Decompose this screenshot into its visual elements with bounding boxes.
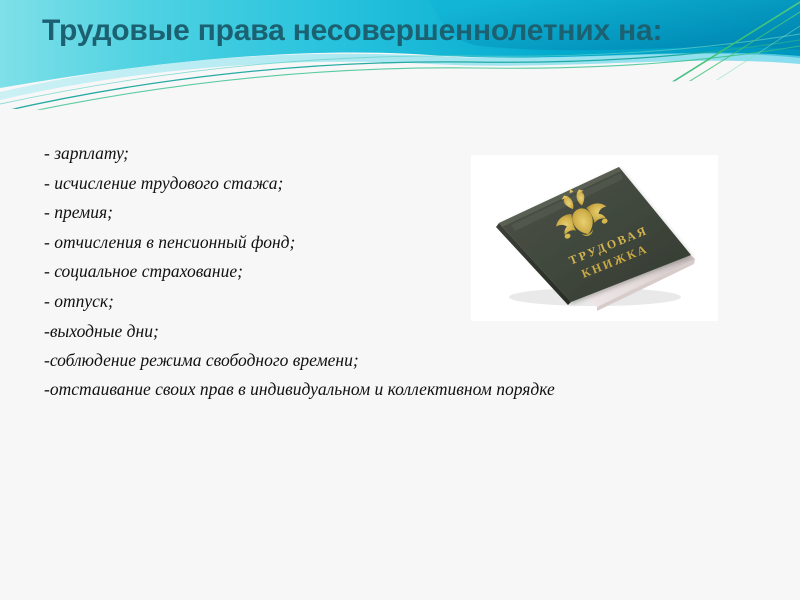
wave-bottom-mask — [0, 74, 800, 130]
slide-title-text: Трудовые права несовершеннолетних на: — [42, 12, 742, 50]
slide-title: Трудовые права несовершеннолетних на: — [42, 12, 742, 50]
work-record-book-image: ТРУДОВАЯ КНИЖКА — [471, 155, 718, 321]
book-illustration: ТРУДОВАЯ КНИЖКА — [471, 155, 718, 321]
list-item: -отстаивание своих прав в индивидуальном… — [44, 376, 704, 402]
slide-canvas: Трудовые права несовершеннолетних на: - … — [0, 0, 800, 600]
list-item: -соблюдение режима свободного времени; — [44, 346, 704, 376]
wave-band-pale — [0, 53, 800, 100]
picture-stage: ТРУДОВАЯ КНИЖКА — [471, 155, 718, 321]
wave-hairline-1 — [0, 40, 800, 112]
wave-lower-mask — [0, 60, 800, 130]
wave-hairline-2 — [0, 46, 800, 118]
list-item: -выходные дни; — [44, 317, 704, 347]
